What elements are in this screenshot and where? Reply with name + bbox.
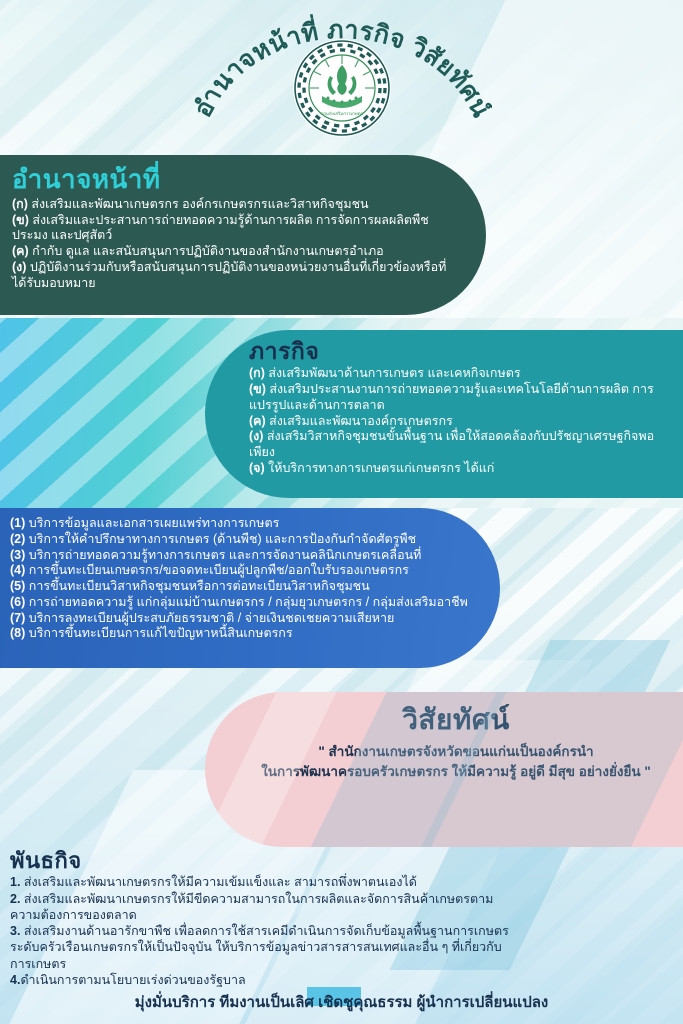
pantakit-item-marker: 1.	[10, 875, 20, 889]
brand-header: อำนาจหน้าที่ ภารกิจ วิสัยทัศน์	[0, 0, 683, 152]
department-seal-icon: กรมส่งเสริมการเกษตร	[292, 38, 392, 138]
pantakit-item: 3. ส่งเสริมงานด้านอารักขาพืช เพื่อลดการใ…	[10, 923, 510, 972]
authority-item-text: ส่งเสริมและพัฒนาเกษตรกร องค์กรเกษตรกรและ…	[31, 197, 368, 211]
service-item-text: บริการให้คำปรึกษาทางการเกษตร (ด้านพืช) แ…	[29, 532, 416, 546]
authority-title: อำนาจหน้าที่	[12, 165, 460, 195]
mission-item-marker: (ค)	[249, 414, 266, 428]
mission-item: (ข) ส่งเสริมประสานงานการถ่ายทอดความรู้แล…	[249, 382, 669, 414]
service-item-text: การขึ้นทะเบียนเกษตรกร/ขอจดทะเบียนผู้ปลูก…	[29, 563, 409, 577]
svg-text:กรมส่งเสริมการเกษตร: กรมส่งเสริมการเกษตร	[321, 111, 364, 116]
service-item-text: บริการถ่ายทอดความรู้ทางการเกษตร และการจั…	[29, 548, 422, 562]
mission-item-marker: (ก)	[249, 366, 265, 380]
service-item: (4) การขึ้นทะเบียนเกษตรกร/ขอจดทะเบียนผู้…	[10, 563, 470, 579]
service-item-text: การขึ้นทะเบียนวิสาหกิจชุมชนหรือการต่อทะเ…	[29, 579, 370, 593]
service-item: (3) บริการถ่ายทอดความรู้ทางการเกษตร และก…	[10, 548, 470, 564]
service-item: (5) การขึ้นทะเบียนวิสาหกิจชุมชนหรือการต่…	[10, 579, 470, 595]
vision-title: วิสัยทัศน์	[245, 704, 667, 736]
authority-item: (ง) ปฏิบัติงานร่วมกับหรือสนับสนุนการปฏิบ…	[12, 260, 460, 292]
section-vision: วิสัยทัศน์ " สำนักงานเกษตรจังหวัดขอนแก่น…	[205, 692, 683, 847]
vision-quote-line-2: ในการพัฒนาครอบครัวเกษตรกร ให้มีความรู้ อ…	[245, 762, 667, 782]
footer-slogan: มุ่งมั่นบริการ ทีมงานเป็นเลิศ เชิดชูคุณธ…	[0, 990, 683, 1014]
pantakit-item-text: ส่งเสริมงานด้านอารักขาพืช เพื่อลดการใช้ส…	[10, 924, 509, 971]
authority-item-marker: (ค)	[12, 244, 29, 258]
mission-item: (ก) ส่งเสริมพัฒนาด้านการเกษตร และเคหกิจเ…	[249, 366, 669, 382]
service-item: (2) บริการให้คำปรึกษาทางการเกษตร (ด้านพื…	[10, 532, 470, 548]
pantakit-title: พันธกิจ	[10, 848, 510, 873]
service-item: (6) การถ่ายทอดความรู้ แก่กลุ่มแม่บ้านเกษ…	[10, 595, 470, 611]
authority-item-text: กำกับ ดูแล และสนับสนุนการปฏิบัติงานของสำ…	[32, 244, 384, 258]
mission-title: ภารกิจ	[249, 338, 669, 364]
service-item-text: บริการขึ้นทะเบียนการแก้ไขปัญหาหนี้สินเกษ…	[29, 626, 293, 640]
service-item-marker: (3)	[10, 548, 25, 562]
pantakit-item: 1. ส่งเสริมและพัฒนาเกษตรกรให้มีความเข้มแ…	[10, 874, 510, 890]
service-item-marker: (1)	[10, 516, 25, 530]
section-authority: อำนาจหน้าที่ (ก) ส่งเสริมและพัฒนาเกษตรกร…	[0, 155, 486, 315]
service-item-marker: (6)	[10, 595, 25, 609]
service-item-marker: (8)	[10, 626, 25, 640]
authority-item: (ข) ส่งเสริมและประสานการถ่ายทอดความรู้ด้…	[12, 213, 460, 245]
pantakit-item: 2. ส่งเสริมและพัฒนาเกษตรกรให้มีขีดความสา…	[10, 891, 510, 924]
authority-item: (ค) กำกับ ดูแล และสนับสนุนการปฏิบัติงานข…	[12, 244, 460, 260]
vision-quote-line-1: " สำนักงานเกษตรจังหวัดขอนแก่นเป็นองค์กรน…	[245, 742, 667, 762]
pantakit-item-marker: 3.	[10, 924, 20, 938]
pantakit-item-marker: 4.	[10, 973, 20, 987]
mission-item-text: ส่งเสริมพัฒนาด้านการเกษตร และเคหกิจเกษตร	[268, 366, 520, 380]
mission-item: (จ) ให้บริการทางการเกษตรแก่เกษตรกร ได้แก…	[249, 461, 669, 477]
service-item-text: บริการข้อมูลและเอกสารเผยแพร่ทางการเกษตร	[29, 516, 280, 530]
service-item-text: บริการลงทะเบียนผู้ประสบภัยธรรมชาติ / จ่า…	[29, 611, 395, 625]
authority-item: (ก) ส่งเสริมและพัฒนาเกษตรกร องค์กรเกษตรก…	[12, 197, 460, 213]
service-item: (8) บริการขึ้นทะเบียนการแก้ไขปัญหาหนี้สิ…	[10, 626, 470, 642]
mission-item-text: ส่งเสริมและพัฒนาองค์กรเกษตรกร	[269, 414, 453, 428]
authority-item-marker: (ง)	[12, 260, 26, 274]
authority-item-text: ปฏิบัติงานร่วมกับหรือสนับสนุนการปฏิบัติง…	[12, 260, 446, 290]
service-item-marker: (7)	[10, 611, 25, 625]
service-item-marker: (5)	[10, 579, 25, 593]
service-item-marker: (4)	[10, 563, 25, 577]
authority-item-text: ส่งเสริมและประสานการถ่ายทอดความรู้ด้านกา…	[12, 213, 429, 243]
pantakit-item: 4.ดำเนินการตามนโยบายเร่งด่วนของรัฐบาล	[10, 972, 510, 988]
mission-item-marker: (จ)	[249, 461, 265, 475]
mission-item-text: ส่งเสริมประสานงานการถ่ายทอดความรู้และเทค…	[249, 382, 654, 412]
poster-root: อำนาจหน้าที่ ภารกิจ วิสัยทัศน์	[0, 0, 683, 1024]
mission-item: (ง) ส่งเสริมวิสาหกิจชุมชนขั้นพื้นฐาน เพื…	[249, 429, 669, 461]
pantakit-item-marker: 2.	[10, 892, 20, 906]
service-item: (7) บริการลงทะเบียนผู้ประสบภัยธรรมชาติ /…	[10, 611, 470, 627]
service-item: (1) บริการข้อมูลและเอกสารเผยแพร่ทางการเก…	[10, 516, 470, 532]
mission-item: (ค) ส่งเสริมและพัฒนาองค์กรเกษตรกร	[249, 414, 669, 430]
pantakit-item-text: ดำเนินการตามนโยบายเร่งด่วนของรัฐบาล	[20, 973, 245, 987]
mission-item-text: ให้บริการทางการเกษตรแก่เกษตรกร ได้แก่	[268, 461, 494, 475]
section-pantakit: พันธกิจ 1. ส่งเสริมและพัฒนาเกษตรกรให้มีค…	[10, 848, 510, 988]
section-mission: ภารกิจ (ก) ส่งเสริมพัฒนาด้านการเกษตร และ…	[205, 330, 683, 498]
authority-item-marker: (ก)	[12, 197, 28, 211]
mission-item-text: ส่งเสริมวิสาหกิจชุมชนขั้นพื้นฐาน เพื่อให…	[249, 429, 654, 459]
service-item-text: การถ่ายทอดความรู้ แก่กลุ่มแม่บ้านเกษตรกร…	[29, 595, 468, 609]
pantakit-item-text: ส่งเสริมและพัฒนาเกษตรกรให้มีความเข้มแข็ง…	[24, 875, 417, 889]
pantakit-item-text: ส่งเสริมและพัฒนาเกษตรกรให้มีขีดความสามาร…	[10, 892, 493, 922]
authority-item-marker: (ข)	[12, 213, 29, 227]
mission-item-marker: (ข)	[249, 382, 266, 396]
section-services: (1) บริการข้อมูลและเอกสารเผยแพร่ทางการเก…	[0, 508, 500, 668]
mission-item-marker: (ง)	[249, 429, 263, 443]
service-item-marker: (2)	[10, 532, 25, 546]
